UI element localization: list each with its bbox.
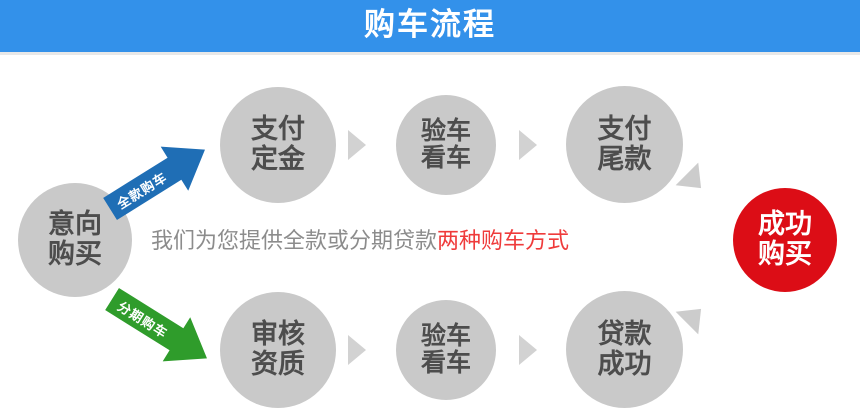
page-title: 购车流程 [0,0,860,52]
chevron-right-icon-bottom-2 [519,335,537,365]
flow-node-pay-deposit-line1: 支付 [251,115,305,145]
flow-node-inspect-car-top: 验车 看车 [396,95,496,195]
flow-node-pay-balance-line2: 尾款 [598,145,652,175]
flow-node-loan-approved-line2: 成功 [598,350,652,380]
flow-node-pay-balance: 支付 尾款 [566,86,683,203]
flow-node-review-qualification-line1: 审核 [251,320,305,350]
flow-node-pay-balance-line1: 支付 [598,115,652,145]
branch-arrow-full-payment: 全款购车 [96,128,219,231]
branch-arrow-installment: 分期购车 [98,277,221,380]
flow-node-review-qualification: 审核 资质 [220,292,336,408]
flow-node-loan-approved: 贷款 成功 [566,291,683,408]
chevron-right-icon-top-1 [348,130,366,160]
chevron-right-icon-top-2 [519,130,537,160]
flow-node-review-qualification-line2: 资质 [251,350,305,380]
chevron-right-icon-bottom-1 [348,335,366,365]
center-caption-red-text: 两种购车方式 [437,228,569,253]
purchase-flow-infographic: 购车流程 意向 购买 全款购车 分期购车 支付 定金 验 [0,0,860,412]
flow-node-purchase-success: 成功 购买 [733,188,837,292]
flow-node-pay-deposit-line2: 定金 [251,145,305,175]
flow-node-purchase-success-line1: 成功 [758,210,812,240]
center-caption-gray-text: 我们为您提供全款或分期贷款 [151,228,437,253]
flow-node-pay-deposit: 支付 定金 [220,87,336,203]
chevron-converge-icon-lower [676,298,713,335]
flow-node-inspect-car-top-line1: 验车 [421,118,471,146]
chevron-converge-icon-upper [676,163,713,200]
flow-node-purchase-success-line2: 购买 [758,240,812,270]
flow-node-inspect-car-bottom-line2: 看车 [421,350,471,378]
center-caption: 我们为您提供全款或分期贷款两种购车方式 [0,223,720,255]
flow-diagram: 意向 购买 全款购车 分期购车 支付 定金 验车 看车 [0,55,860,412]
flow-node-inspect-car-top-line2: 看车 [421,145,471,173]
flow-node-inspect-car-bottom: 验车 看车 [396,300,496,400]
flow-node-loan-approved-line1: 贷款 [598,320,652,350]
flow-node-inspect-car-bottom-line1: 验车 [421,323,471,351]
